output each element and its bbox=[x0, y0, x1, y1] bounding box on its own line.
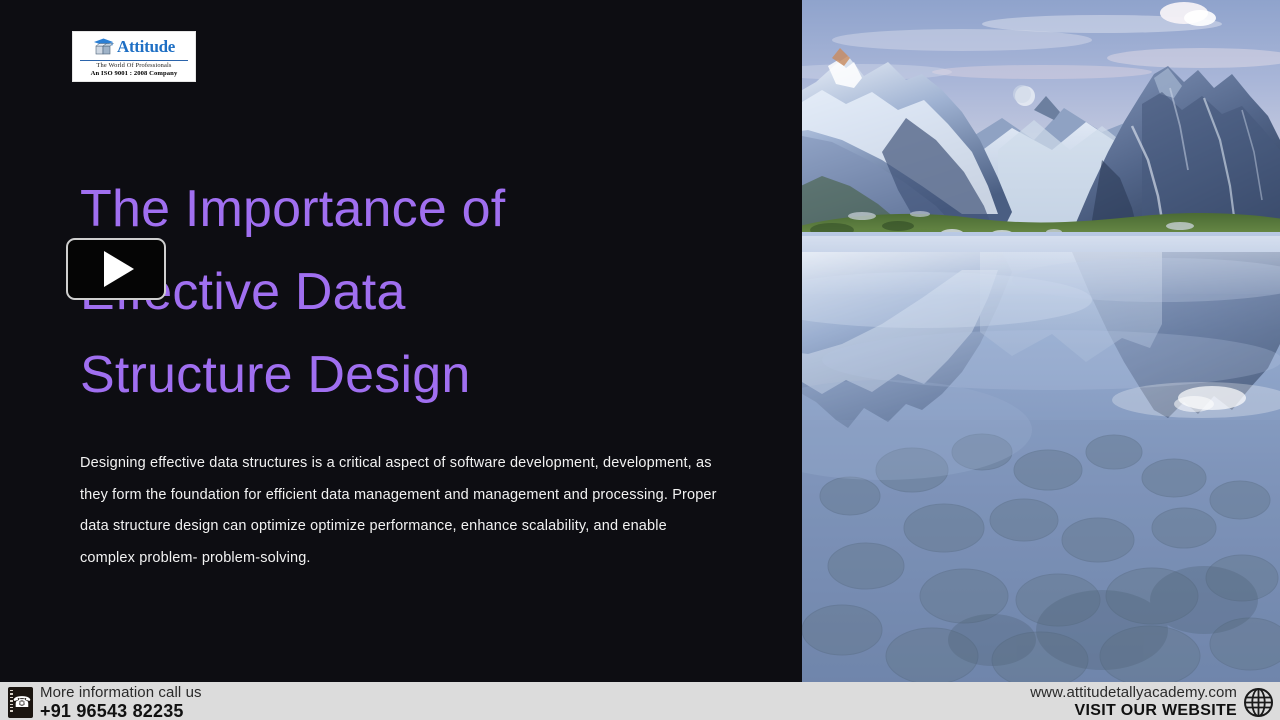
play-triangle-icon bbox=[104, 251, 134, 287]
logo-certification: An ISO 9001 : 2008 Company bbox=[91, 70, 178, 78]
footer-website[interactable]: www.attitudetallyacademy.com VISIT OUR W… bbox=[1030, 685, 1274, 719]
contact-text: More information call us +91 96543 82235 bbox=[40, 685, 202, 720]
title-line-3: Structure Design bbox=[80, 334, 720, 417]
footer-contact[interactable]: ☎ More information call us +91 96543 822… bbox=[8, 685, 202, 720]
title-line-1: The Importance of bbox=[80, 168, 720, 251]
phonebook-spiral bbox=[10, 690, 13, 715]
call-label: More information call us bbox=[40, 685, 202, 700]
phone-handset-glyph: ☎ bbox=[13, 695, 32, 710]
slide-title: The Importance of Effective Data Structu… bbox=[80, 168, 720, 417]
play-button[interactable] bbox=[66, 238, 166, 300]
description-paragraph: Designing effective data structures is a… bbox=[80, 448, 720, 574]
logo-tagline: The World Of Professionals bbox=[96, 62, 171, 69]
graduation-cap-cube-icon bbox=[93, 38, 114, 56]
footer-bar: ☎ More information call us +91 96543 822… bbox=[0, 682, 1280, 720]
visit-website-label: VISIT OUR WEBSITE bbox=[1075, 703, 1237, 719]
company-logo[interactable]: Attitude The World Of Professionals An I… bbox=[72, 31, 196, 82]
phone-number[interactable]: +91 96543 82235 bbox=[40, 702, 202, 720]
slide-description: Designing effective data structures is a… bbox=[80, 448, 720, 574]
logo-row: Attitude bbox=[93, 35, 175, 59]
presentation-slide: Attitude The World Of Professionals An I… bbox=[0, 0, 1280, 720]
left-content-panel: Attitude The World Of Professionals An I… bbox=[0, 0, 802, 682]
logo-wordmark: Attitude bbox=[117, 38, 175, 55]
title-line-2: Effective Data bbox=[80, 251, 720, 334]
logo-divider bbox=[80, 60, 188, 61]
website-url[interactable]: www.attitudetallyacademy.com bbox=[1030, 685, 1237, 700]
phone-icon: ☎ bbox=[8, 687, 33, 718]
globe-icon bbox=[1243, 687, 1274, 718]
mountain-lake-photo bbox=[802, 0, 1280, 682]
website-text: www.attitudetallyacademy.com VISIT OUR W… bbox=[1030, 685, 1237, 719]
